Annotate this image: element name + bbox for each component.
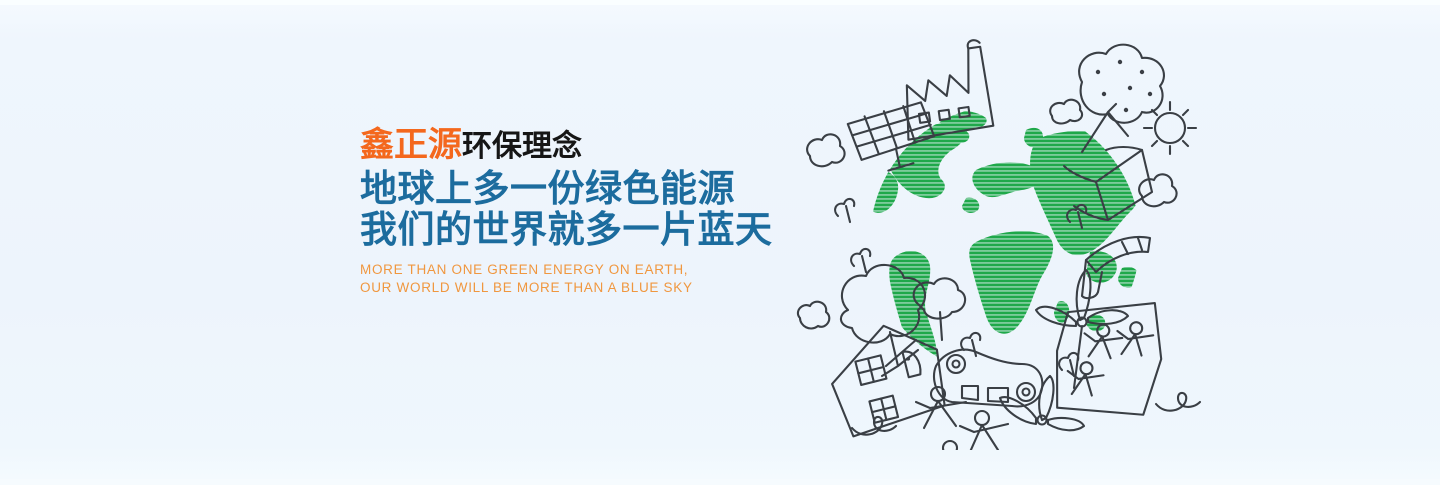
tree-icon	[1079, 45, 1164, 152]
plant-sprout-icon	[835, 199, 854, 222]
cloud-icon	[1139, 174, 1177, 206]
subtitle-english-line-1: MORE THAN ONE GREEN ENERGY ON EARTH,	[360, 261, 780, 279]
eco-globe-illustration	[790, 20, 1220, 450]
headline-block: 鑫正源环保理念 地球上多一份绿色能源 我们的世界就多一片蓝天 MORE THAN…	[360, 126, 780, 297]
squiggle-decoration	[1156, 393, 1200, 411]
cloud-icon	[1050, 100, 1082, 124]
headline-line-3: 我们的世界就多一片蓝天	[360, 210, 780, 249]
subtitle-english: MORE THAN ONE GREEN ENERGY ON EARTH, OUR…	[360, 261, 780, 297]
bottom-edge-strip	[0, 479, 1440, 485]
eco-banner: 鑫正源环保理念 地球上多一份绿色能源 我们的世界就多一片蓝天 MORE THAN…	[0, 0, 1440, 485]
headline-line-2: 地球上多一份绿色能源	[360, 169, 780, 208]
headline-line-1-rest: 环保理念	[462, 130, 582, 163]
sun-icon	[1144, 102, 1196, 154]
subtitle-english-line-2: OUR WORLD WILL BE MORE THAN A BLUE SKY	[360, 279, 780, 297]
cloud-icon	[807, 134, 845, 166]
car-icon	[934, 350, 1042, 407]
cloud-icon	[798, 302, 829, 329]
plant-sprout-icon	[851, 249, 870, 272]
top-edge-strip	[0, 0, 1440, 5]
brand-name: 鑫正源	[360, 126, 462, 164]
headline-line-1: 鑫正源环保理念	[360, 126, 780, 166]
